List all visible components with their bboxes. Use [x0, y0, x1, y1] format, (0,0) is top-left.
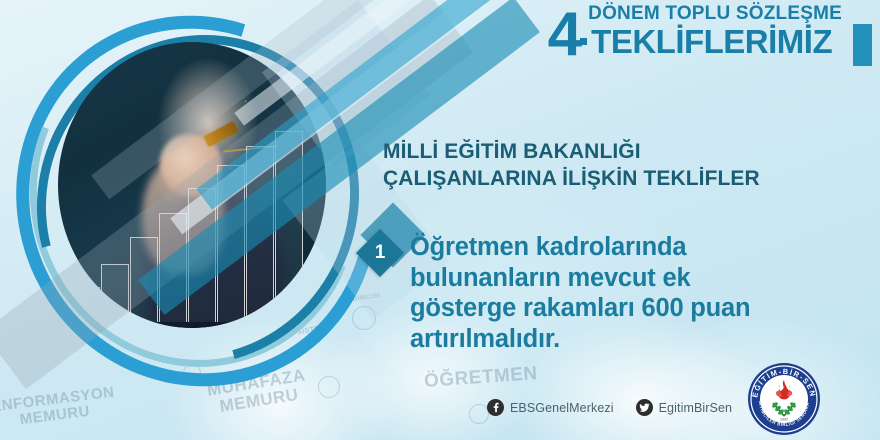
header-line-top: DÖNEM TOPLU SÖZLEŞME [588, 4, 842, 24]
chart-bar [72, 287, 100, 322]
page-title-line-2: ÇALIŞANLARINA İLİŞKİN TEKLİFLER [383, 166, 760, 193]
page-title: MİLLİ EĞİTİM BAKANLIĞI ÇALIŞANLARINA İLİ… [383, 139, 760, 192]
social-links: EBSGenelMerkezi EgitimBirSen [487, 399, 732, 416]
facebook-handle: EBSGenelMerkezi [510, 401, 614, 415]
photo-businessman [58, 42, 326, 328]
twitter-handle: EgitimBirSen [659, 401, 732, 415]
poster-canvas: MUHAFAZA MEMURU ENFORMASYON MEMURU ÖĞRET… [0, 0, 880, 440]
facebook-icon[interactable] [487, 399, 504, 416]
social-link-facebook[interactable]: EBSGenelMerkezi [487, 399, 614, 416]
social-link-twitter[interactable]: EgitimBirSen [636, 399, 732, 416]
header-lines: DÖNEM TOPLU SÖZLEŞME TEKLİFLERİMİZ [586, 4, 842, 58]
header-accent-block [853, 24, 872, 66]
proposal-number: 1 [363, 236, 397, 270]
chart-bar [101, 264, 129, 322]
chart-bar [275, 131, 303, 322]
placard-badge-icon [469, 404, 489, 424]
page-title-line-1: MİLLİ EĞİTİM BAKANLIĞI [383, 139, 760, 166]
separator-dot-icon [580, 38, 587, 45]
drawn-bar-chart [68, 132, 318, 322]
twitter-icon[interactable] [636, 399, 653, 416]
campaign-number: 4 [548, 6, 580, 64]
header-bottom-row: TEKLİFLERİMİZ [586, 25, 842, 58]
chart-bar [217, 165, 245, 322]
chart-bar [159, 213, 187, 322]
proposal-number-badge: 1 [356, 229, 404, 277]
logo-year: 1992 [780, 418, 788, 422]
circular-photo-emblem [18, 6, 363, 386]
chart-bar [130, 237, 158, 322]
chart-bar [246, 146, 274, 322]
proposal-text: Öğretmen kadrolarında bulunanların mevcu… [410, 232, 802, 354]
header-title-block: 4 DÖNEM TOPLU SÖZLEŞME TEKLİFLERİMİZ [548, 4, 872, 66]
egitim-bir-sen-logo: EĞİTİM-BİR-SEN EĞİTİMCİLER BİRLİĞİ SENDİ… [745, 360, 823, 438]
chart-bar [188, 188, 216, 322]
header-line-bottom: TEKLİFLERİMİZ [591, 25, 832, 58]
proposal-item: 1 Öğretmen kadrolarında bulunanların mev… [363, 232, 802, 354]
